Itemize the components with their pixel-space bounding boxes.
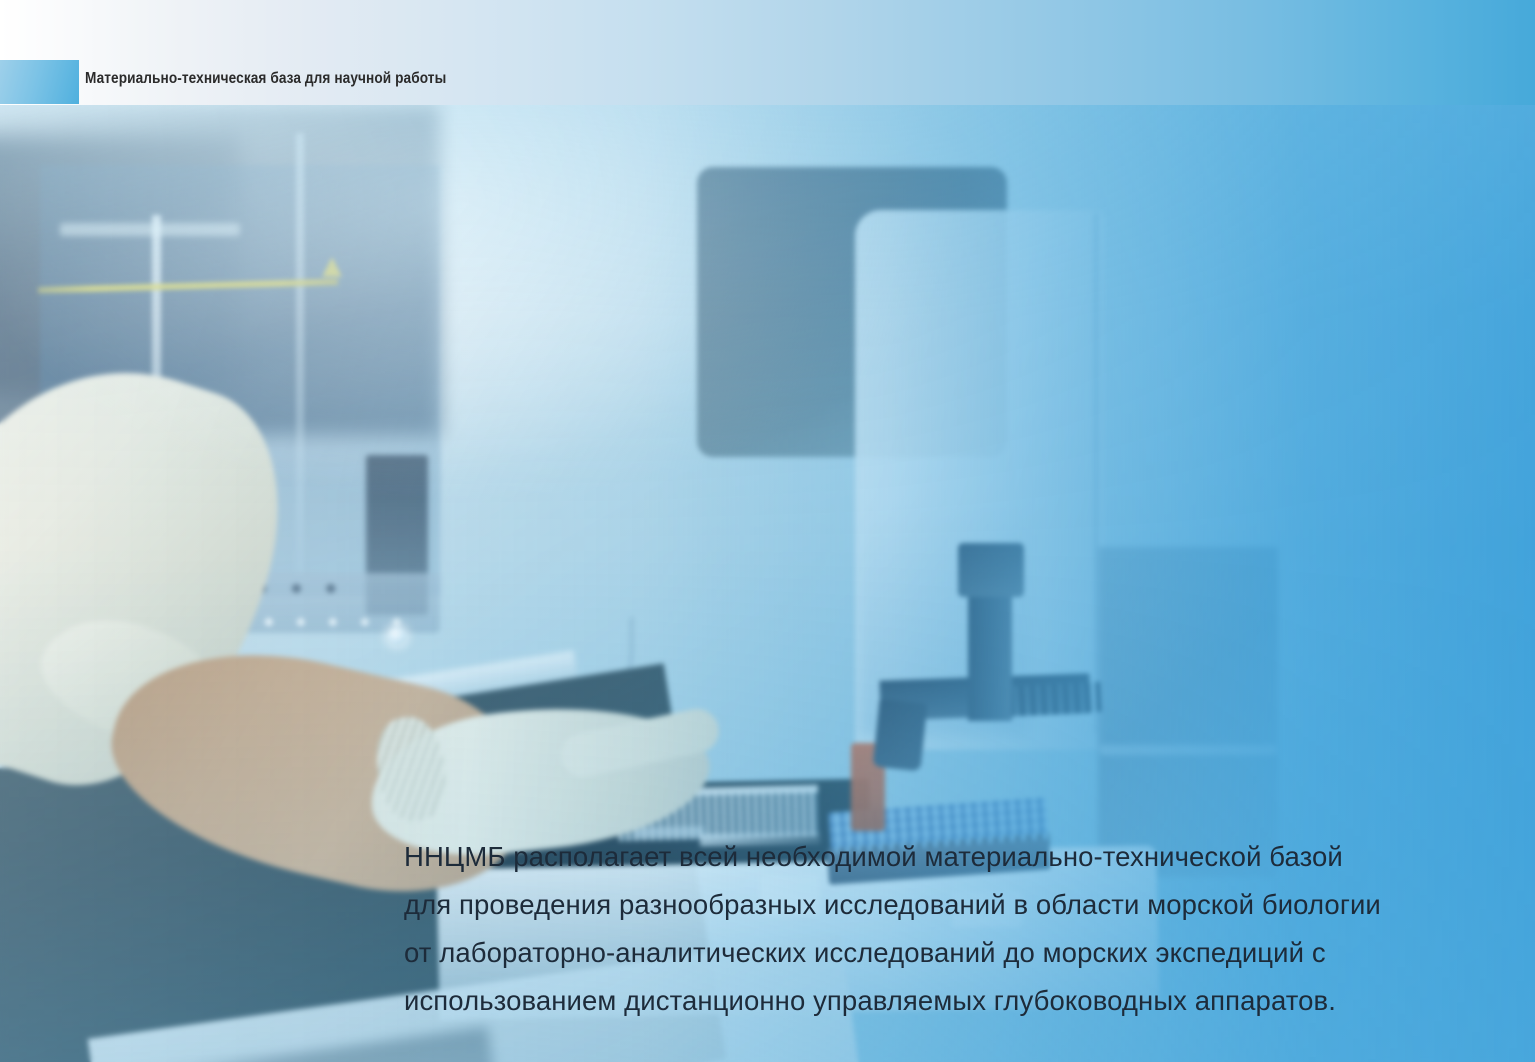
cabinet-led-indicators: [256, 617, 416, 627]
right-instrument-band: [1100, 745, 1276, 755]
right-instrument: [1098, 547, 1278, 877]
cabinet-glass-post-right: [296, 133, 304, 573]
slide-page: Материально-техническая база для научной…: [0, 0, 1535, 1062]
body-paragraph: ННЦМБ располагает всей необходимой матер…: [404, 833, 1452, 1025]
header-band: Материально-техническая база для научной…: [0, 0, 1535, 105]
gantry-column: [968, 591, 1012, 721]
header-accent-block: [0, 60, 79, 104]
cabinet-power-knob: [388, 627, 406, 645]
page-title: Материально-техническая база для научной…: [85, 70, 446, 88]
glove-thumb: [539, 775, 670, 824]
cabinet-highlight: [60, 223, 240, 236]
gantry-head: [958, 543, 1024, 597]
gantry-elbow: [873, 699, 928, 772]
